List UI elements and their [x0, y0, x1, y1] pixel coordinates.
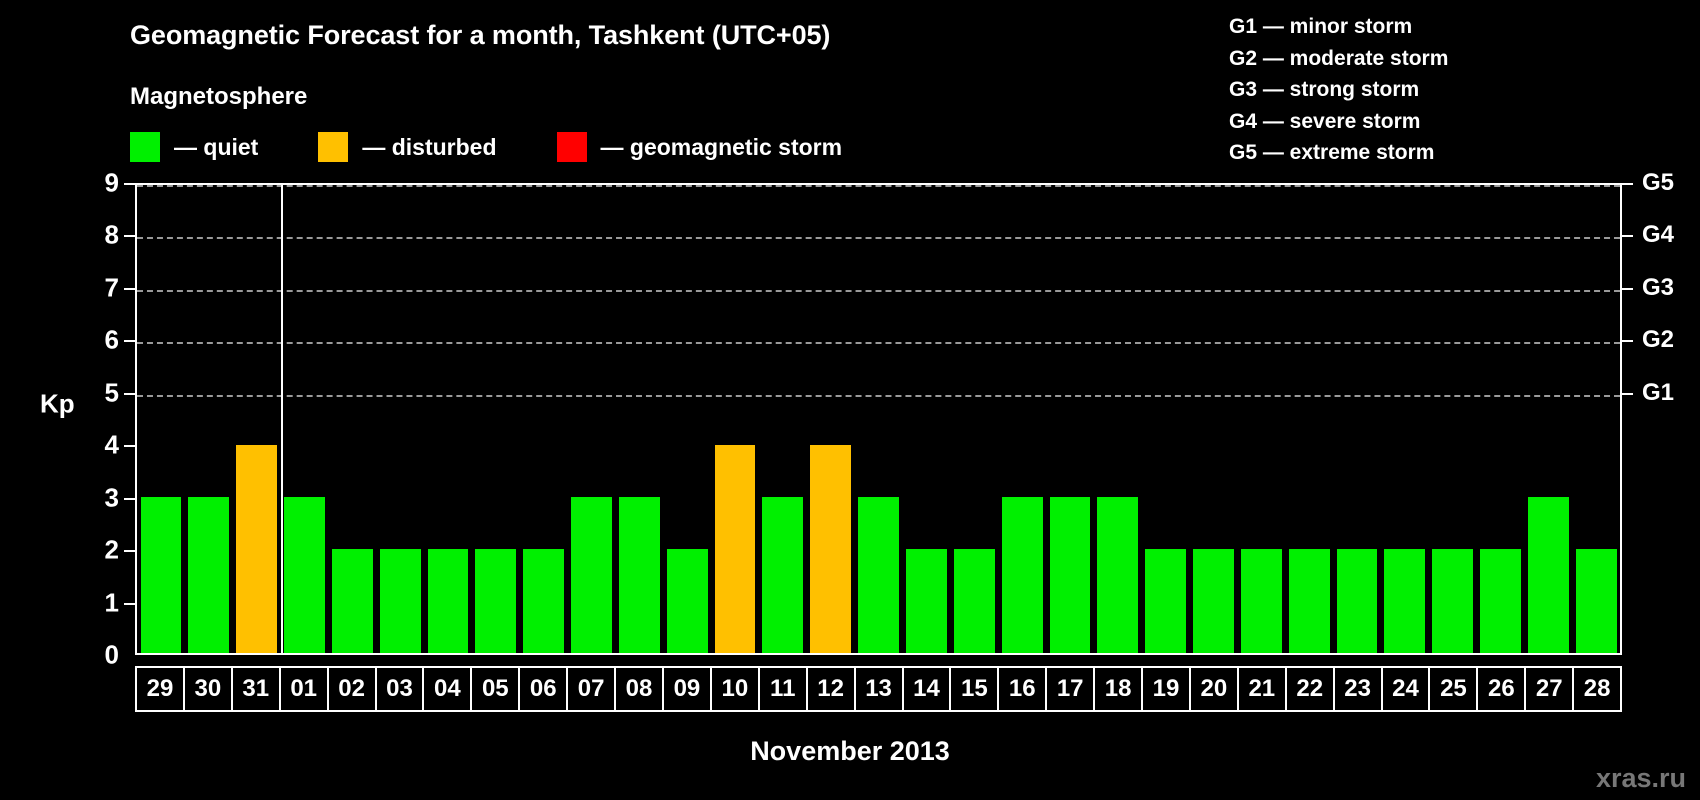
- date-label-30[interactable]: 30: [185, 668, 233, 710]
- page-title: Geomagnetic Forecast for a month, Tashke…: [130, 20, 830, 51]
- bar-cell[interactable]: [1046, 185, 1094, 653]
- bar-cell[interactable]: [1381, 185, 1429, 653]
- legend-item-disturbed: — disturbed: [318, 132, 496, 162]
- g-axis-tick-label: G2: [1642, 326, 1674, 354]
- g-axis-tick-label: G1: [1642, 379, 1674, 407]
- g-axis-tick-label: G4: [1642, 221, 1674, 249]
- bar-28[interactable]: [1576, 549, 1617, 653]
- date-label-01[interactable]: 01: [281, 668, 329, 710]
- bar-10[interactable]: [715, 445, 756, 653]
- bar-04[interactable]: [428, 549, 469, 653]
- y-axis-tick-mark: [124, 183, 135, 185]
- date-label-04[interactable]: 04: [424, 668, 472, 710]
- plot-area: [135, 183, 1622, 655]
- bar-cell[interactable]: [1429, 185, 1477, 653]
- bar-cell[interactable]: [185, 185, 233, 653]
- disturbed-swatch: [318, 132, 348, 162]
- gscale-legend-row: G3 — strong storm: [1229, 74, 1448, 106]
- bar-cell[interactable]: [1237, 185, 1285, 653]
- date-label-17[interactable]: 17: [1047, 668, 1095, 710]
- date-label-22[interactable]: 22: [1287, 668, 1335, 710]
- bar-24[interactable]: [1384, 549, 1425, 653]
- y-axis-tick-label: 3: [105, 482, 119, 513]
- date-label-15[interactable]: 15: [951, 668, 999, 710]
- y-axis-tick-mark: [124, 498, 135, 500]
- date-label-25[interactable]: 25: [1430, 668, 1478, 710]
- g-axis-tick-label: G3: [1642, 274, 1674, 302]
- bar-cell[interactable]: [855, 185, 903, 653]
- date-label-11[interactable]: 11: [760, 668, 808, 710]
- quiet-swatch: [130, 132, 160, 162]
- bar-19[interactable]: [1145, 549, 1186, 653]
- bar-11[interactable]: [762, 497, 803, 653]
- bar-cell[interactable]: [1477, 185, 1525, 653]
- gscale-legend-row: G1 — minor storm: [1229, 11, 1448, 43]
- bar-cell[interactable]: [472, 185, 520, 653]
- geomagnetic-forecast-chart: Geomagnetic Forecast for a month, Tashke…: [0, 0, 1700, 800]
- date-label-27[interactable]: 27: [1526, 668, 1574, 710]
- bar-cell[interactable]: [328, 185, 376, 653]
- bar-14[interactable]: [906, 549, 947, 653]
- bar-cell[interactable]: [281, 185, 329, 653]
- legend-item-quiet: — quiet: [130, 132, 258, 162]
- y-axis-tick-mark: [124, 603, 135, 605]
- gscale-legend: G1 — minor stormG2 — moderate stormG3 — …: [1229, 11, 1448, 169]
- bar-cell[interactable]: [903, 185, 951, 653]
- date-label-23[interactable]: 23: [1335, 668, 1383, 710]
- bar-09[interactable]: [667, 549, 708, 653]
- bar-23[interactable]: [1337, 549, 1378, 653]
- watermark: xras.ru: [1596, 763, 1686, 794]
- date-label-10[interactable]: 10: [712, 668, 760, 710]
- bar-07[interactable]: [571, 497, 612, 653]
- y-axis-tick-label: 9: [105, 168, 119, 199]
- date-label-24[interactable]: 24: [1383, 668, 1431, 710]
- date-label-16[interactable]: 16: [999, 668, 1047, 710]
- bar-cell[interactable]: [1094, 185, 1142, 653]
- bar-21[interactable]: [1241, 549, 1282, 653]
- bar-27[interactable]: [1528, 497, 1569, 653]
- bar-cell[interactable]: [1524, 185, 1572, 653]
- bar-cell[interactable]: [711, 185, 759, 653]
- date-label-03[interactable]: 03: [377, 668, 425, 710]
- gscale-legend-row: G4 — severe storm: [1229, 106, 1448, 138]
- gscale-legend-row: G5 — extreme storm: [1229, 137, 1448, 169]
- y-axis-tick-label: 0: [105, 640, 119, 671]
- x-axis-label: November 2013: [0, 736, 1700, 767]
- g-axis-tick-mark: [1622, 288, 1633, 290]
- legend-label: — quiet: [174, 134, 258, 161]
- y-axis-tick-label: 1: [105, 587, 119, 618]
- date-label-06[interactable]: 06: [520, 668, 568, 710]
- legend-label: — disturbed: [362, 134, 496, 161]
- date-label-05[interactable]: 05: [472, 668, 520, 710]
- date-label-28[interactable]: 28: [1574, 668, 1620, 710]
- y-axis-tick-mark: [124, 340, 135, 342]
- bar-cell[interactable]: [1285, 185, 1333, 653]
- legend: — quiet— disturbed— geomagnetic storm: [130, 132, 902, 162]
- storm-swatch: [557, 132, 587, 162]
- bar-cell[interactable]: [1142, 185, 1190, 653]
- date-label-12[interactable]: 12: [808, 668, 856, 710]
- bar-31[interactable]: [236, 445, 277, 653]
- bar-30[interactable]: [188, 497, 229, 653]
- bar-01[interactable]: [284, 497, 325, 653]
- date-label-07[interactable]: 07: [568, 668, 616, 710]
- magnetosphere-label: Magnetosphere: [130, 83, 307, 111]
- date-label-14[interactable]: 14: [904, 668, 952, 710]
- y-axis-tick-mark: [124, 550, 135, 552]
- g-axis-tick-mark: [1622, 183, 1633, 185]
- bar-20[interactable]: [1193, 549, 1234, 653]
- bar-cell[interactable]: [520, 185, 568, 653]
- date-label-31[interactable]: 31: [233, 668, 281, 710]
- bar-cell[interactable]: [568, 185, 616, 653]
- date-label-19[interactable]: 19: [1143, 668, 1191, 710]
- bar-26[interactable]: [1480, 549, 1521, 653]
- bar-cell[interactable]: [424, 185, 472, 653]
- date-label-21[interactable]: 21: [1239, 668, 1287, 710]
- y-axis-label: Kp: [40, 389, 75, 420]
- y-axis-tick-mark: [124, 445, 135, 447]
- bar-cell[interactable]: [137, 185, 185, 653]
- bar-13[interactable]: [858, 497, 899, 653]
- date-label-02[interactable]: 02: [329, 668, 377, 710]
- right-g-axis: G1G2G3G4G5: [1622, 183, 1700, 655]
- y-axis-tick-label: 4: [105, 430, 119, 461]
- gscale-legend-row: G2 — moderate storm: [1229, 43, 1448, 75]
- bar-cell[interactable]: [950, 185, 998, 653]
- g-axis-tick-mark: [1622, 393, 1633, 395]
- legend-label: — geomagnetic storm: [601, 134, 843, 161]
- bar-cell[interactable]: [376, 185, 424, 653]
- date-label-13[interactable]: 13: [856, 668, 904, 710]
- bar-cell[interactable]: [1190, 185, 1238, 653]
- date-label-20[interactable]: 20: [1191, 668, 1239, 710]
- bar-16[interactable]: [1002, 497, 1043, 653]
- date-label-29[interactable]: 29: [137, 668, 185, 710]
- date-axis: 2930310102030405060708091011121314151617…: [135, 666, 1622, 712]
- bar-cell[interactable]: [1333, 185, 1381, 653]
- y-axis-tick-mark: [124, 393, 135, 395]
- bar-cell[interactable]: [615, 185, 663, 653]
- bar-05[interactable]: [475, 549, 516, 653]
- legend-item-storm: — geomagnetic storm: [557, 132, 843, 162]
- y-axis-tick-mark: [124, 235, 135, 237]
- bar-03[interactable]: [380, 549, 421, 653]
- g-axis-tick-mark: [1622, 235, 1633, 237]
- y-axis-tick-label: 5: [105, 377, 119, 408]
- bar-cell[interactable]: [759, 185, 807, 653]
- y-axis-tick-label: 6: [105, 325, 119, 356]
- bar-22[interactable]: [1289, 549, 1330, 653]
- bar-15[interactable]: [954, 549, 995, 653]
- bar-cell[interactable]: [1572, 185, 1620, 653]
- date-label-08[interactable]: 08: [616, 668, 664, 710]
- y-axis-tick-label: 2: [105, 535, 119, 566]
- g-axis-tick-mark: [1622, 340, 1633, 342]
- bar-series: [137, 185, 1620, 653]
- date-label-26[interactable]: 26: [1478, 668, 1526, 710]
- bar-29[interactable]: [141, 497, 182, 653]
- bar-25[interactable]: [1432, 549, 1473, 653]
- y-axis-tick-label: 7: [105, 272, 119, 303]
- date-label-09[interactable]: 09: [664, 668, 712, 710]
- y-axis-tick-mark: [124, 288, 135, 290]
- bar-cell[interactable]: [807, 185, 855, 653]
- bar-cell[interactable]: [233, 185, 281, 653]
- bar-17[interactable]: [1050, 497, 1091, 653]
- bar-cell[interactable]: [998, 185, 1046, 653]
- bar-08[interactable]: [619, 497, 660, 653]
- y-axis-tick-label: 8: [105, 220, 119, 251]
- bar-02[interactable]: [332, 549, 373, 653]
- bar-18[interactable]: [1097, 497, 1138, 653]
- bar-cell[interactable]: [663, 185, 711, 653]
- g-axis-tick-label: G5: [1642, 169, 1674, 197]
- date-label-18[interactable]: 18: [1095, 668, 1143, 710]
- bar-12[interactable]: [810, 445, 851, 653]
- bar-06[interactable]: [523, 549, 564, 653]
